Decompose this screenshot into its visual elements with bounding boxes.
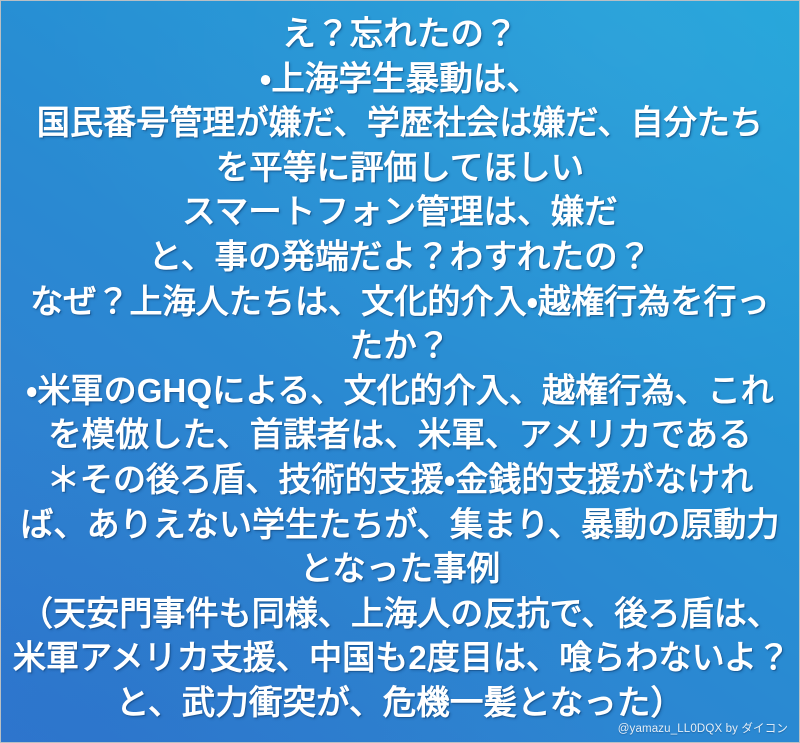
text-line: を平等に評価してほしい	[7, 147, 793, 192]
text-line: ・上海学生暴動は、	[7, 58, 793, 103]
text-line: ば、ありえない学生たちが、集まり、暴動の原動力	[13, 504, 787, 549]
text-line: と、武力衝突が、危機一髪となった）	[7, 682, 793, 727]
text-line: （天安門事件も同様、上海人の反抗で、後ろ盾は、	[13, 593, 787, 638]
text-line: 米軍アメリカ支援、中国も2度目は、喰らわないよ？	[13, 637, 787, 682]
text-line: え？忘れたの？	[7, 13, 793, 58]
text-line: となった事例	[7, 548, 793, 593]
text-line: なぜ？上海人たちは、文化的介入・越権行為を行っ	[13, 281, 787, 326]
text-card: え？忘れたの？ ・上海学生暴動は、 国民番号管理が嫌だ、学歴社会は嫌だ、自分たち…	[0, 0, 800, 743]
text-line: ＊その後ろ盾、技術的支援・金銭的支援がなけれ	[13, 459, 787, 504]
watermark-credit: @yamazu_LL0DQX by ダイコン	[618, 724, 788, 736]
card-body-text: え？忘れたの？ ・上海学生暴動は、 国民番号管理が嫌だ、学歴社会は嫌だ、自分たち…	[1, 13, 799, 727]
text-line: ・米軍のGHQによる、文化的介入、越権行為、これ	[13, 370, 787, 415]
text-line: スマートフォン管理は、嫌だ	[7, 191, 793, 236]
text-line: たか？	[7, 325, 793, 370]
text-line: を模倣した、首謀者は、米軍、アメリカである	[7, 414, 793, 459]
text-line: 国民番号管理が嫌だ、学歴社会は嫌だ、自分たち	[13, 102, 787, 147]
text-line: と、事の発端だよ？わすれたの？	[7, 236, 793, 281]
